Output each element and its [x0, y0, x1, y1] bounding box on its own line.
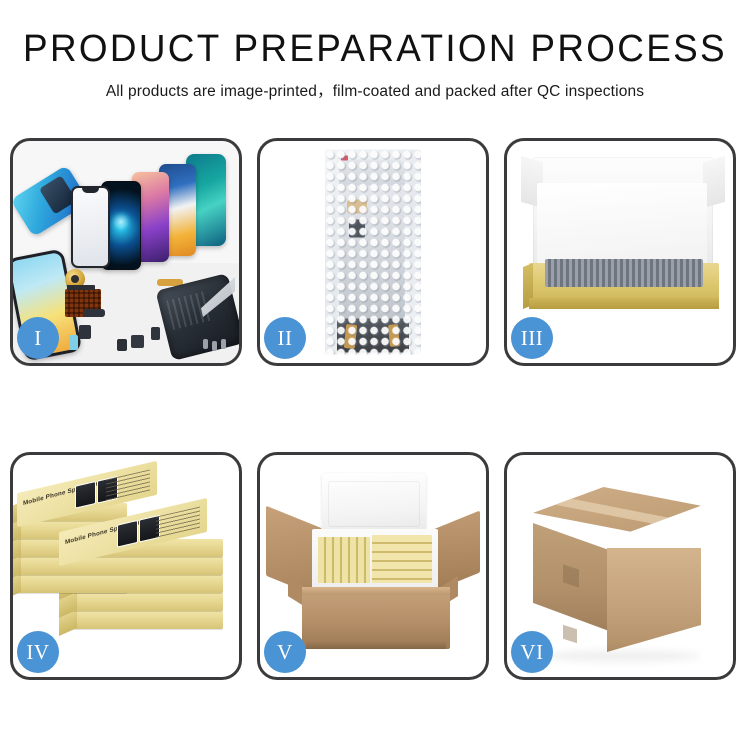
speaker-part: [67, 285, 95, 290]
small-component-2: [117, 339, 127, 351]
carton-ground-shadow: [541, 651, 701, 661]
product-inside-box: [545, 259, 703, 287]
step-badge-1: I: [17, 317, 59, 359]
small-component-5: [69, 335, 78, 350]
process-step-grid: I II: [10, 138, 740, 683]
step-panel-inner-box[interactable]: III: [504, 138, 736, 366]
tempered-glass-protector: [71, 186, 110, 268]
box-spec-lines-2: [156, 507, 200, 539]
small-component-1: [79, 325, 91, 339]
step-badge-6: VI: [511, 631, 553, 673]
page-title: PRODUCT PREPARATION PROCESS: [11, 30, 739, 70]
step-panel-phone-parts[interactable]: I: [10, 138, 242, 366]
foam-lid: [322, 473, 426, 535]
screws-group: [203, 339, 229, 351]
box-spec-lines-1: [106, 469, 150, 501]
stacked-box-r5: [73, 611, 223, 629]
step-badge-2: II: [264, 317, 306, 359]
box-product-image-3: [117, 520, 138, 548]
step-badge-5: V: [264, 631, 306, 673]
page-header: PRODUCT PREPARATION PROCESS All products…: [0, 0, 750, 101]
foam-sheet: [537, 183, 707, 265]
stacked-box-r4: [73, 593, 223, 611]
step-badge-3: III: [511, 317, 553, 359]
bubble-wrap-bag: [325, 150, 421, 355]
bubble-highlight-layer: [325, 150, 421, 355]
box-product-image-1: [75, 481, 96, 509]
stacked-box-l5: [17, 575, 127, 593]
yellow-boxes-group-1: [318, 537, 370, 583]
carton-handle-notch-2: [563, 625, 577, 644]
yellow-boxes-group-2: [372, 535, 432, 583]
small-component-4: [151, 327, 160, 340]
step-panel-bubble-wrap[interactable]: II: [257, 138, 489, 366]
step-badge-4: IV: [17, 631, 59, 673]
flex-cable-3: [83, 309, 105, 317]
carton-front-panel: [302, 587, 450, 649]
small-component-3: [131, 335, 144, 348]
step-panel-boxes-stacked[interactable]: Mobile Phone Spare Parts Mobile Phone Sp…: [10, 452, 242, 680]
yellow-box-tray: [529, 263, 719, 309]
page-subtitle: All products are image-printed，film-coat…: [0, 79, 750, 101]
carton-right-face: [607, 548, 701, 652]
step-panel-carton-packing[interactable]: V: [257, 452, 489, 680]
step-panel-sealed-carton[interactable]: VI: [504, 452, 736, 680]
product-preparation-process-page: PRODUCT PREPARATION PROCESS All products…: [0, 0, 750, 750]
box-front-lip: [529, 298, 719, 309]
